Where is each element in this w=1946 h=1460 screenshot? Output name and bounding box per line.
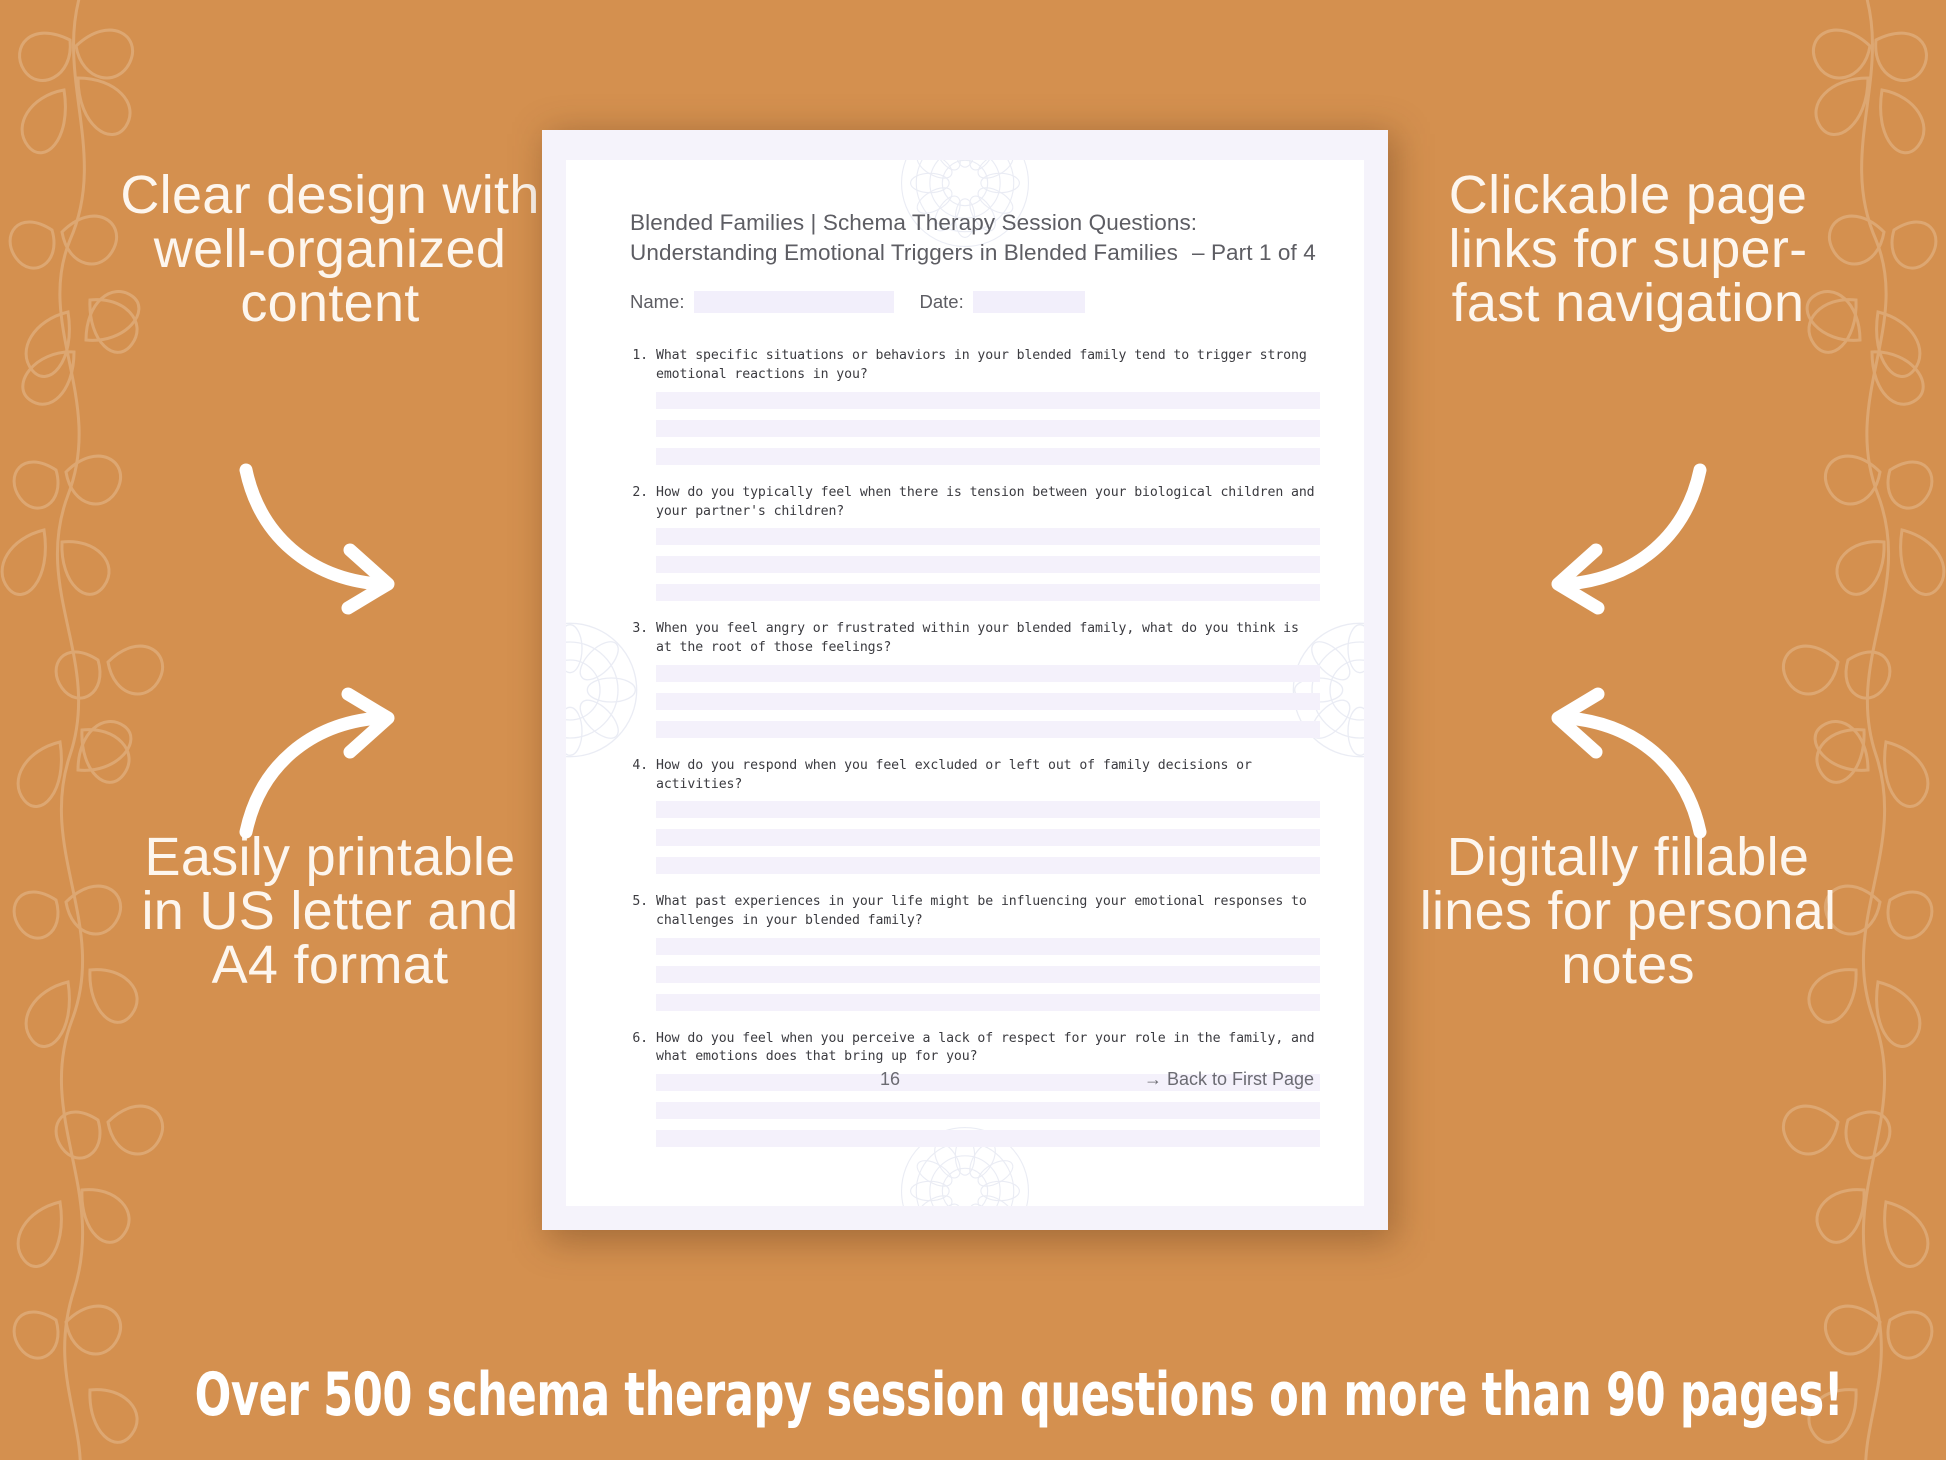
promo-clickable-links: Clickable page links for super-fast navi…: [1418, 168, 1838, 330]
question-number: 1.: [630, 347, 656, 384]
answer-line[interactable]: [656, 693, 1320, 710]
answer-lines: [656, 938, 1320, 1011]
answer-line[interactable]: [656, 994, 1320, 1011]
question-item: 3.When you feel angry or frustrated with…: [630, 620, 1320, 737]
answer-line[interactable]: [656, 584, 1320, 601]
name-label: Name:: [630, 291, 685, 313]
answer-line[interactable]: [656, 721, 1320, 738]
answer-line[interactable]: [656, 938, 1320, 955]
question-text-row: 4.How do you respond when you feel exclu…: [630, 757, 1320, 794]
worksheet-content-area: Blended Families | Schema Therapy Sessio…: [566, 160, 1364, 1206]
worksheet-page[interactable]: Blended Families | Schema Therapy Sessio…: [542, 130, 1388, 1230]
question-number: 4.: [630, 757, 656, 794]
answer-lines: [656, 801, 1320, 874]
question-text-row: 2.How do you typically feel when there i…: [630, 484, 1320, 521]
back-to-first-page-link[interactable]: → Back to First Page: [1144, 1069, 1314, 1090]
worksheet-subtitle: Understanding Emotional Triggers in Blen…: [630, 240, 1178, 265]
answer-line[interactable]: [656, 829, 1320, 846]
answer-line[interactable]: [656, 665, 1320, 682]
worksheet-meta-row: Name: Date:: [630, 291, 1320, 313]
question-item: 4.How do you respond when you feel exclu…: [630, 757, 1320, 874]
answer-lines: [656, 392, 1320, 465]
date-label: Date:: [920, 291, 964, 313]
page-number: 16: [880, 1069, 900, 1090]
question-item: 2.How do you typically feel when there i…: [630, 484, 1320, 601]
worksheet-footer: 16 → Back to First Page: [630, 1069, 1320, 1090]
answer-line[interactable]: [656, 556, 1320, 573]
worksheet-title-line-2: Understanding Emotional Triggers in Blen…: [630, 238, 1320, 268]
question-text-row: 6.How do you feel when you perceive a la…: [630, 1030, 1320, 1067]
bottom-banner: Over 500 schema therapy session question…: [195, 1360, 1752, 1430]
date-input[interactable]: [973, 291, 1085, 313]
question-text: How do you respond when you feel exclude…: [656, 757, 1320, 794]
promo-printable: Easily printable in US letter and A4 for…: [120, 830, 540, 992]
question-item: 5.What past experiences in your life mig…: [630, 893, 1320, 1010]
question-text-row: 3.When you feel angry or frustrated with…: [630, 620, 1320, 657]
answer-line[interactable]: [656, 1130, 1320, 1147]
worksheet-part-label: – Part 1 of 4: [1192, 240, 1316, 265]
question-text: What specific situations or behaviors in…: [656, 347, 1320, 384]
answer-line[interactable]: [656, 420, 1320, 437]
question-number: 5.: [630, 893, 656, 930]
worksheet-title-line-1: Blended Families | Schema Therapy Sessio…: [630, 208, 1320, 238]
answer-line[interactable]: [656, 528, 1320, 545]
question-text: What past experiences in your life might…: [656, 893, 1320, 930]
promo-clear-design: Clear design with well-organized content: [120, 168, 540, 330]
curved-arrow-right-down-icon: [238, 462, 418, 612]
question-text: When you feel angry or frustrated within…: [656, 620, 1320, 657]
question-list: 1.What specific situations or behaviors …: [630, 347, 1320, 1147]
curved-arrow-right-up-icon: [238, 690, 418, 840]
answer-line[interactable]: [656, 1102, 1320, 1119]
question-number: 3.: [630, 620, 656, 657]
question-text: How do you typically feel when there is …: [656, 484, 1320, 521]
answer-line[interactable]: [656, 448, 1320, 465]
question-item: 1.What specific situations or behaviors …: [630, 347, 1320, 464]
question-number: 6.: [630, 1030, 656, 1067]
curved-arrow-left-up-icon: [1528, 690, 1708, 840]
question-number: 2.: [630, 484, 656, 521]
answer-lines: [656, 528, 1320, 601]
question-text-row: 1.What specific situations or behaviors …: [630, 347, 1320, 384]
promo-fillable-lines: Digitally fillable lines for personal no…: [1418, 830, 1838, 992]
question-text: How do you feel when you perceive a lack…: [656, 1030, 1320, 1067]
answer-line[interactable]: [656, 966, 1320, 983]
question-text-row: 5.What past experiences in your life mig…: [630, 893, 1320, 930]
worksheet-body: Blended Families | Schema Therapy Sessio…: [630, 208, 1320, 1166]
name-input[interactable]: [694, 291, 894, 313]
answer-lines: [656, 665, 1320, 738]
curved-arrow-left-down-icon: [1528, 462, 1708, 612]
answer-line[interactable]: [656, 857, 1320, 874]
answer-line[interactable]: [656, 801, 1320, 818]
answer-line[interactable]: [656, 392, 1320, 409]
